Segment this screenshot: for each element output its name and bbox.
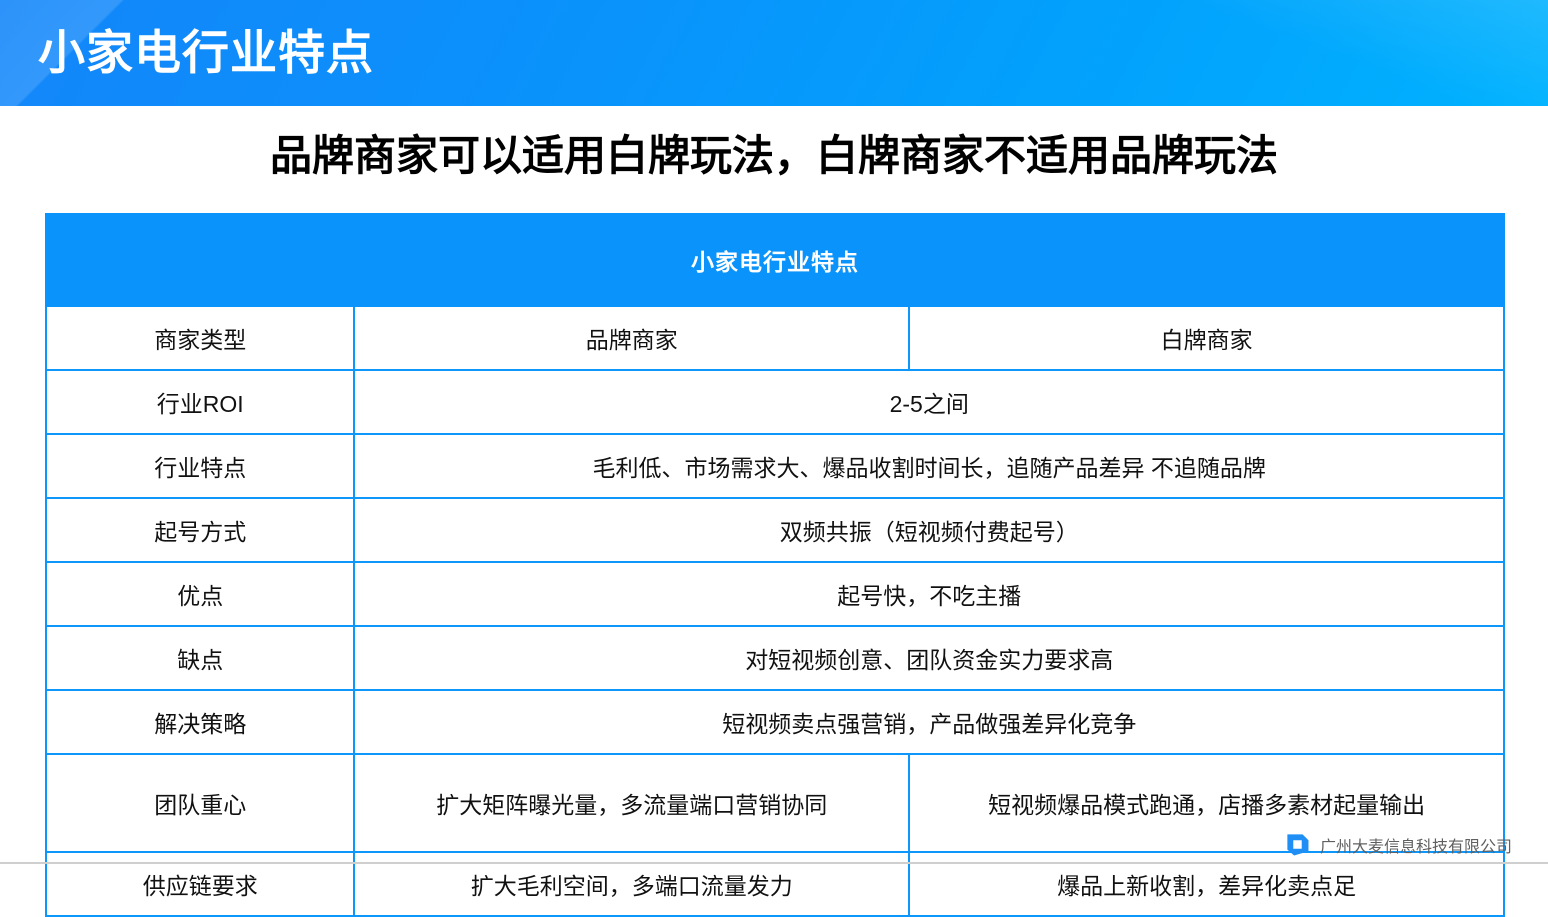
page-header: 小家电行业特点 (0, 0, 1548, 106)
industry-feature-table: 小家电行业特点 商家类型 品牌商家 白牌商家 行业ROI 2-5之间 行业特点 … (45, 213, 1505, 917)
row-value-white-label: 白牌商家 (909, 306, 1504, 370)
row-label: 商家类型 (46, 306, 354, 370)
header-decorative-wedge-right (1128, 0, 1548, 106)
row-label: 优点 (46, 562, 354, 626)
subtitle: 品牌商家可以适用白牌玩法，白牌商家不适用品牌玩法 (0, 122, 1548, 183)
table-title-row: 小家电行业特点 (46, 214, 1504, 306)
table-row: 解决策略 短视频卖点强营销，产品做强差异化竞争 (46, 690, 1504, 754)
row-label: 解决策略 (46, 690, 354, 754)
row-label: 行业ROI (46, 370, 354, 434)
row-value-merged: 2-5之间 (354, 370, 1504, 434)
table-title: 小家电行业特点 (46, 214, 1504, 306)
damai-logo-icon (1284, 831, 1311, 858)
row-value-brand: 扩大矩阵曝光量，多流量端口营销协同 (354, 754, 909, 852)
row-value-merged: 毛利低、市场需求大、爆品收割时间长，追随产品差异 不追随品牌 (354, 434, 1504, 498)
table-row: 行业ROI 2-5之间 (46, 370, 1504, 434)
row-value-brand: 品牌商家 (354, 306, 909, 370)
table-row: 优点 起号快，不吃主播 (46, 562, 1504, 626)
row-value-merged: 短视频卖点强营销，产品做强差异化竞争 (354, 690, 1504, 754)
footer-company-name: 广州大麦信息科技有限公司 (1320, 833, 1512, 857)
row-label: 团队重心 (46, 754, 354, 852)
table-row: 行业特点 毛利低、市场需求大、爆品收割时间长，追随产品差异 不追随品牌 (46, 434, 1504, 498)
row-label: 缺点 (46, 626, 354, 690)
table-row: 缺点 对短视频创意、团队资金实力要求高 (46, 626, 1504, 690)
table-row: 商家类型 品牌商家 白牌商家 (46, 306, 1504, 370)
table-row: 起号方式 双频共振（短视频付费起号） (46, 498, 1504, 562)
page-title: 小家电行业特点 (38, 18, 374, 88)
bottom-divider (0, 862, 1548, 864)
row-value-merged: 对短视频创意、团队资金实力要求高 (354, 626, 1504, 690)
footer: 广州大麦信息科技有限公司 (1284, 831, 1512, 858)
row-label: 起号方式 (46, 498, 354, 562)
row-value-merged: 起号快，不吃主播 (354, 562, 1504, 626)
row-label: 行业特点 (46, 434, 354, 498)
row-value-merged: 双频共振（短视频付费起号） (354, 498, 1504, 562)
